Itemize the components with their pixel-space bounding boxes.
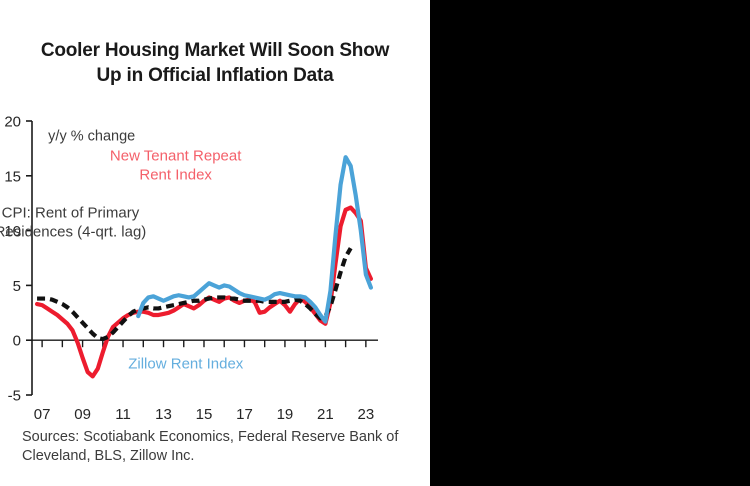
figure-panel: Cooler Housing Market Will Soon Show Up … [0,0,430,486]
source-note: Sources: Scotiabank Economics, Federal R… [22,428,422,466]
chart-annotation: CPI: Rent of PrimaryResidences (4-qrt. l… [0,204,146,240]
chart-annotation: New Tenant RepeatRent Index [110,147,242,183]
y-axis-tick-label: 15 [4,168,21,185]
y-axis-tick-label: 0 [13,333,21,350]
x-axis-tick-label: 17 [236,406,253,423]
y-axis-tick-label: 20 [4,114,21,131]
x-axis-tick-label: 07 [34,406,51,423]
line-chart-svg: -505101520070911131517192123y/y % change… [0,105,430,425]
title-line-1: Cooler Housing Market Will Soon Show [0,38,430,63]
x-axis-tick-label: 11 [115,406,131,423]
x-axis-tick-label: 21 [317,406,334,423]
chart-annotation: y/y % change [48,129,135,145]
chart-annotation: Zillow Rent Index [128,356,244,373]
x-axis-tick-label: 13 [155,406,172,423]
x-axis-tick-label: 19 [277,406,294,423]
chart-plot-area: -505101520070911131517192123y/y % change… [0,105,430,425]
page-title: Cooler Housing Market Will Soon Show Up … [0,38,430,88]
x-axis-tick-label: 09 [74,406,91,423]
y-axis-tick-label: -5 [8,388,21,405]
title-line-2: Up in Official Inflation Data [0,63,430,88]
x-axis-tick-label: 15 [196,406,213,423]
x-axis-tick-label: 23 [358,406,375,423]
y-axis-tick-label: 5 [13,278,21,295]
